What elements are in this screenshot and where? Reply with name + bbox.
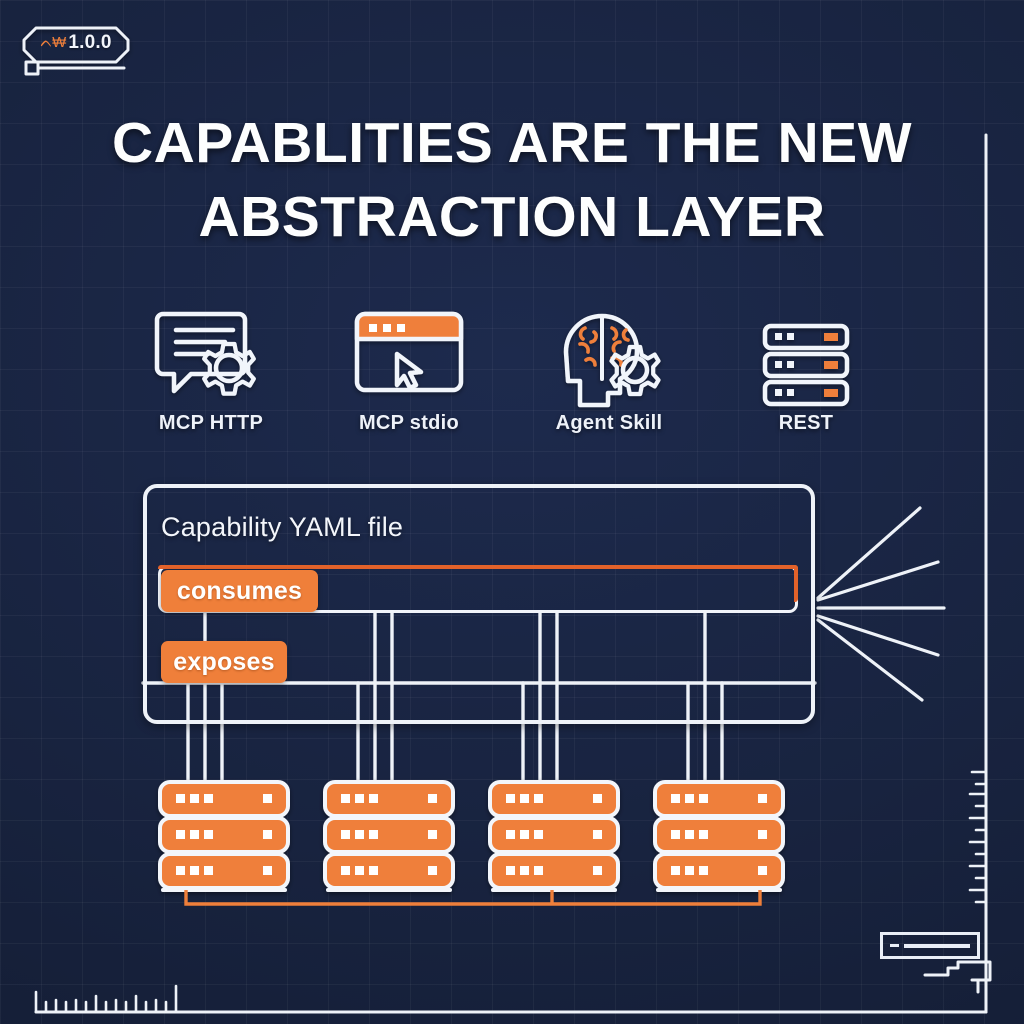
orange-bus-line bbox=[186, 890, 760, 904]
version-label: 1.0.0 bbox=[68, 32, 111, 54]
connector-type-row: MCP HTTP MCP stdio Agent Skill REST bbox=[0, 300, 1024, 445]
connector-label-mcp-stdio: MCP stdio bbox=[309, 412, 509, 435]
rest-icon-slot bbox=[706, 300, 906, 390]
connector-label-rest: REST bbox=[706, 412, 906, 435]
connector-item-mcp-stdio[interactable]: MCP stdio bbox=[309, 300, 509, 435]
bottom-left-ruler bbox=[36, 986, 176, 1012]
consumes-pill[interactable]: consumes bbox=[161, 570, 318, 612]
server-rack-group bbox=[160, 782, 783, 890]
legend-dash-icon bbox=[890, 944, 899, 947]
page-title-line-1: CAPABLITIES ARE THE NEW bbox=[0, 106, 1024, 180]
badge-slider bbox=[26, 62, 124, 74]
server-rack-4 bbox=[655, 782, 783, 890]
agent-skill-icon-slot bbox=[509, 300, 709, 390]
page-title: CAPABLITIES ARE THE NEW ABSTRACTION LAYE… bbox=[0, 106, 1024, 254]
mcp-stdio-icon-slot bbox=[309, 300, 509, 390]
right-ruler bbox=[970, 772, 986, 902]
capability-fan-rays bbox=[818, 508, 944, 700]
server-rack-3 bbox=[490, 782, 618, 890]
exposes-pill[interactable]: exposes bbox=[161, 641, 287, 683]
connector-item-mcp-http[interactable]: MCP HTTP bbox=[111, 300, 311, 435]
server-rack-1 bbox=[160, 782, 288, 890]
mcp-http-icon-slot bbox=[111, 300, 311, 390]
legend-bar-icon bbox=[904, 944, 970, 948]
bottom-right-step-glyph bbox=[925, 962, 990, 992]
connector-label-mcp-http: MCP HTTP bbox=[111, 412, 311, 435]
connector-item-rest[interactable]: REST bbox=[706, 300, 906, 435]
connector-item-agent-skill[interactable]: Agent Skill bbox=[509, 300, 709, 435]
capability-panel-title: Capability YAML file bbox=[161, 512, 403, 543]
page-title-line-2: ABSTRACTION LAYER bbox=[0, 180, 1024, 254]
legend-box bbox=[880, 932, 980, 959]
blueprint-canvas: ᨈ₩ 1.0.0 CAPABLITIES ARE THE NEW ABSTRAC… bbox=[0, 0, 1024, 1024]
connector-label-agent-skill: Agent Skill bbox=[509, 412, 709, 435]
server-rack-2 bbox=[325, 782, 453, 890]
version-badge[interactable]: ᨈ₩ 1.0.0 bbox=[24, 24, 128, 62]
badge-glyph-icon: ᨈ₩ bbox=[40, 35, 65, 50]
